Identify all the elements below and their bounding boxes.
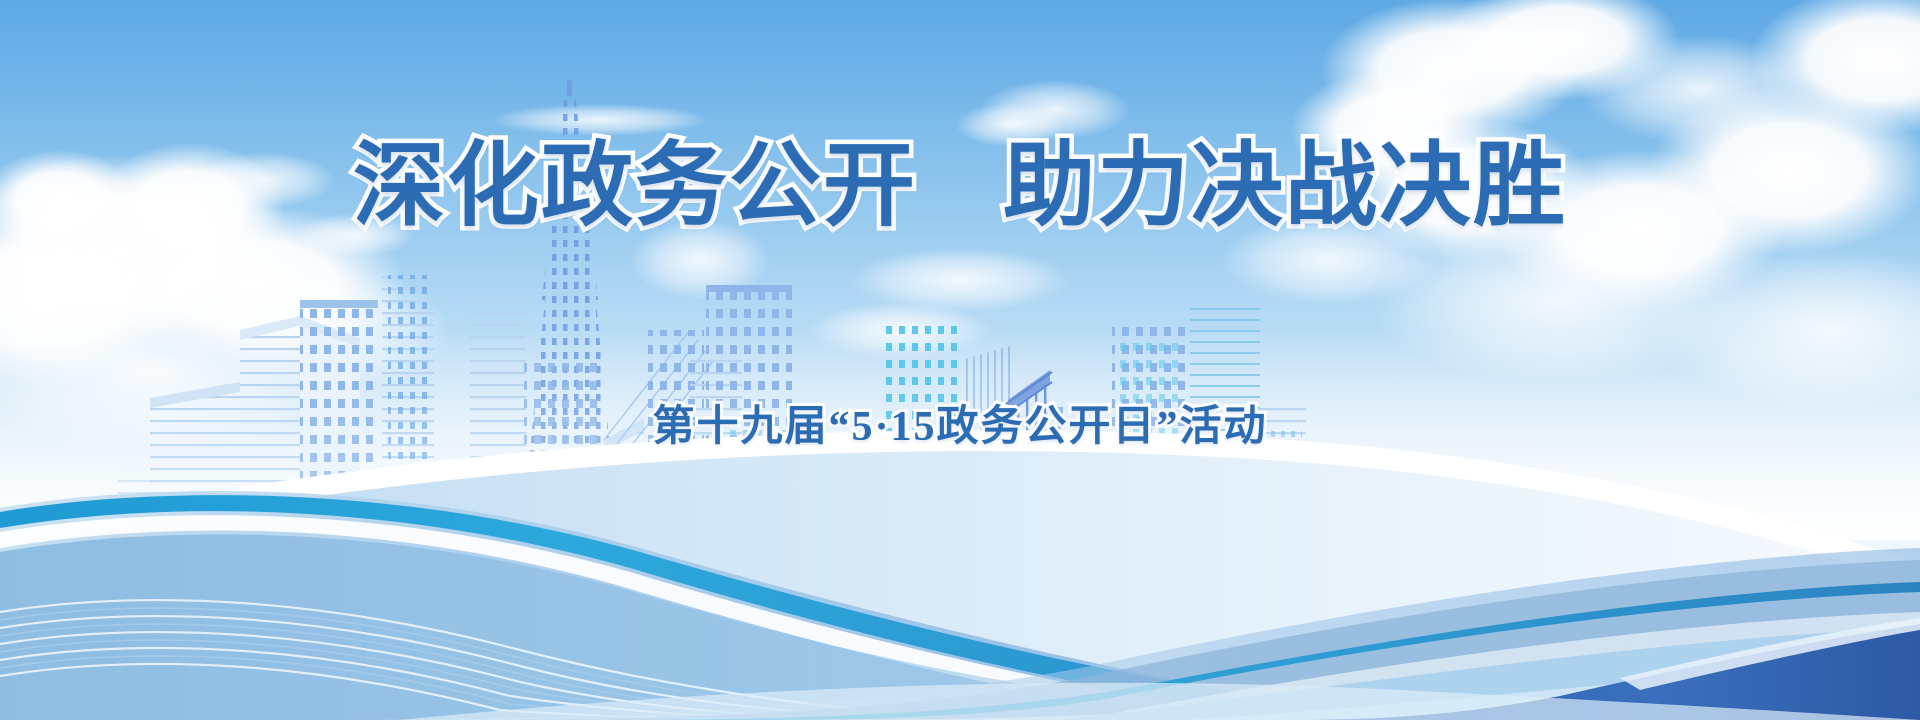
banner-subtitle: 第十九届“5·15政务公开日”活动: [0, 392, 1920, 453]
event-banner: 深化政务公开 助力决战决胜 第十九届“5·15政务公开日”活动: [0, 0, 1920, 720]
subtitle-text: 第十九届“5·15政务公开日”活动: [652, 392, 1267, 453]
